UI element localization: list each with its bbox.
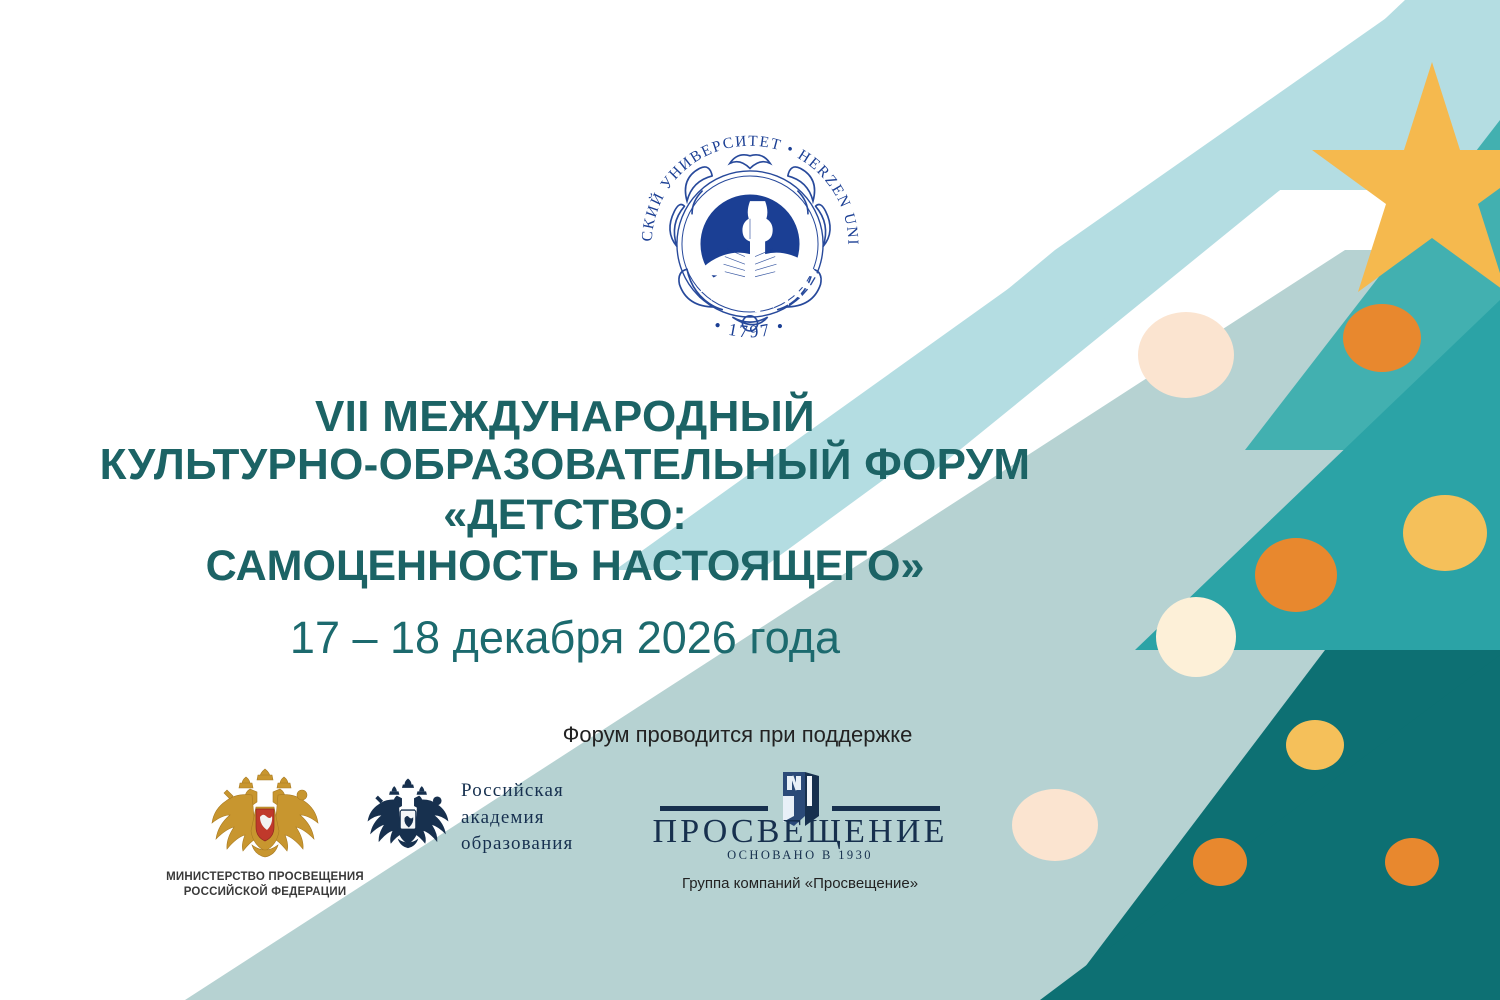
rao-line-3: образования [461, 831, 573, 858]
rao-line-2: академия [461, 805, 573, 832]
headline-line-4: САМОЦЕННОСТЬ НАСТОЯЩЕГО» [0, 541, 1130, 592]
partner-logos-row: МИНИСТЕРСТВО ПРОСВЕЩЕНИЯ РОССИЙСКОЙ ФЕДЕ… [150, 760, 970, 920]
ornament-orange-4 [1385, 838, 1439, 886]
rao-wordmark: Российская академия образования [461, 778, 573, 859]
headline-line-1: VII МЕЖДУНАРОДНЫЙ [0, 393, 1130, 441]
university-seal-container: ГЕРЦЕНОВСКИЙ УНИВЕРСИТЕТ • HERZEN UNIVER… [0, 118, 1500, 370]
prosveshchenie-wordmark: ПРОСВЕЩЕНИЕ [652, 813, 947, 850]
partner-ministry-of-education: МИНИСТЕРСТВО ПРОСВЕЩЕНИЯ РОССИЙСКОЙ ФЕДЕ… [160, 765, 370, 900]
partner-russian-academy-of-education: Российская академия образования [365, 772, 625, 864]
herzen-university-seal: ГЕРЦЕНОВСКИЙ УНИВЕРСИТЕТ • HERZEN UNIVER… [624, 118, 876, 370]
ornament-orange-2 [1255, 538, 1337, 612]
russian-eagle-gold-icon [206, 765, 324, 861]
seal-year: • 1797 • [711, 315, 788, 342]
ornament-orange-3 [1193, 838, 1247, 886]
ministry-caption: МИНИСТЕРСТВО ПРОСВЕЩЕНИЯ РОССИЙСКОЙ ФЕДЕ… [160, 870, 370, 900]
russian-eagle-navy-icon [365, 772, 451, 864]
ornament-cream-2 [1012, 789, 1098, 861]
poster-canvas: ГЕРЦЕНОВСКИЙ УНИВЕРСИТЕТ • HERZEN UNIVER… [0, 0, 1500, 1000]
event-dates: 17 – 18 декабря 2026 года [0, 613, 1130, 663]
prosveshchenie-caption: Группа компаний «Просвещение» [640, 875, 960, 892]
prosveshchenie-tagline: ОСНОВАНО В 1930 [727, 848, 873, 862]
ministry-caption-line-2: РОССИЙСКОЙ ФЕДЕРАЦИИ [160, 885, 370, 900]
rao-line-1: Российская [461, 778, 573, 805]
partner-prosveshchenie: ПРОСВЕЩЕНИЕ ОСНОВАНО В 1930 Группа компа… [640, 766, 960, 892]
ornament-ivory-1 [1156, 597, 1236, 677]
headline-line-2: КУЛЬТУРНО-ОБРАЗОВАТЕЛЬНЫЙ ФОРУМ [0, 441, 1130, 489]
headline-line-3: «ДЕТСТВО: [0, 490, 1130, 541]
rule-right [832, 806, 940, 811]
rule-left [660, 806, 768, 811]
support-caption: Форум проводится при поддержке [0, 722, 1475, 748]
ornament-yellow-1 [1403, 495, 1487, 571]
headline-block: VII МЕЖДУНАРОДНЫЙ КУЛЬТУРНО-ОБРАЗОВАТЕЛЬ… [0, 393, 1130, 663]
prosveshchenie-logo-mark: ПРОСВЕЩЕНИЕ ОСНОВАНО В 1930 [650, 766, 950, 862]
ministry-caption-line-1: МИНИСТЕРСТВО ПРОСВЕЩЕНИЯ [160, 870, 370, 885]
